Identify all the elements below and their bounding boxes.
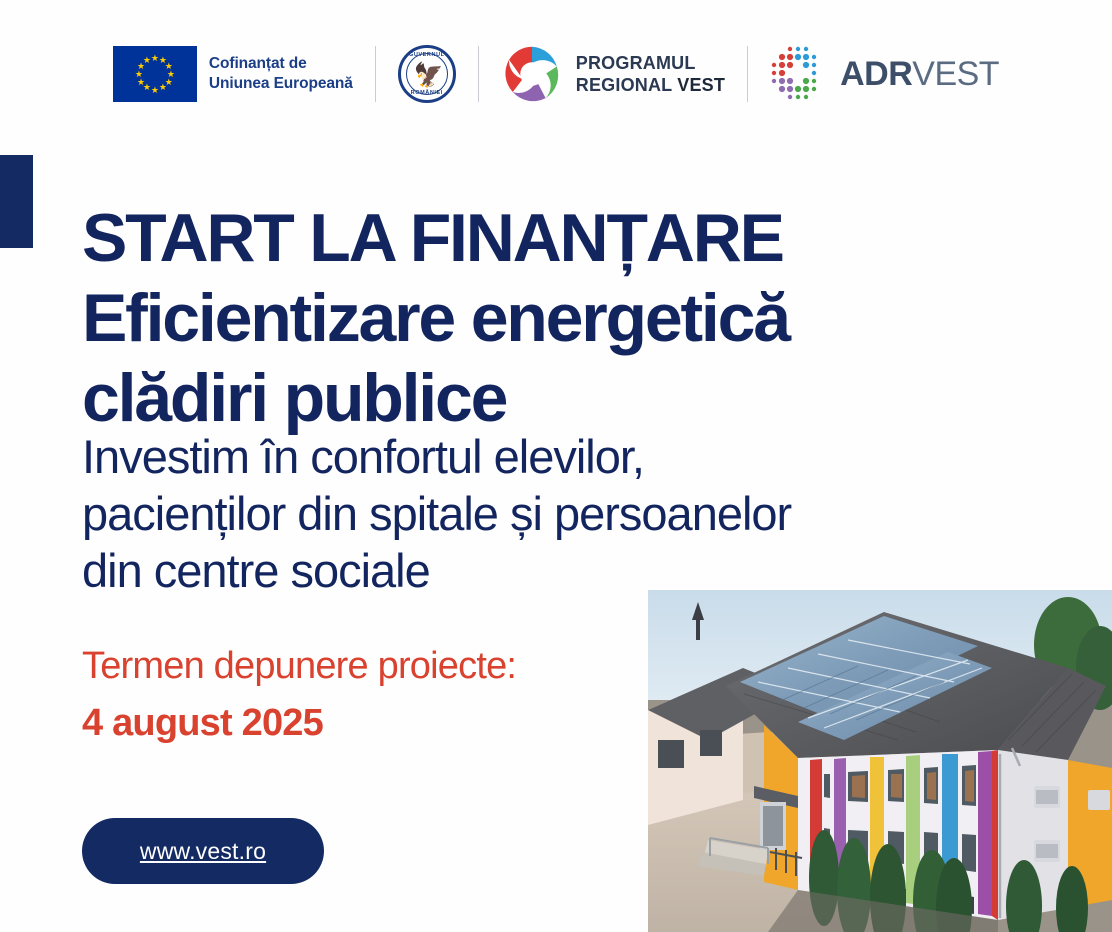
guvernul-romaniei-seal-icon: GUVERNUL 🦅 ROMÂNIEI [398, 45, 456, 103]
program-logo-cell: PROGRAMUL REGIONAL VEST [479, 34, 747, 114]
deadline-date: 4 august 2025 [82, 700, 323, 746]
page-title: START LA FINANȚARE Eficientizare energet… [82, 198, 1042, 438]
website-cta-button[interactable]: www.vest.ro [82, 818, 324, 884]
eu-logo-cell: ★★★★★★★★★★★★ Cofinanțat de Uniunea Europ… [91, 34, 375, 114]
eu-logo-line1: Cofinanțat de [209, 54, 353, 74]
page-subtitle: Investim în confortul elevilor, pacienți… [82, 428, 1042, 599]
program-logo-text: PROGRAMUL REGIONAL VEST [576, 52, 725, 96]
adr-dots-icon [770, 46, 826, 102]
adr-text-regular: VEST [912, 55, 999, 93]
pinwheel-icon [501, 43, 563, 105]
adr-logo-cell: ADRVEST [748, 34, 1021, 114]
eu-star-icon: ★ [134, 70, 143, 79]
eu-star-icon: ★ [137, 78, 146, 87]
headline-line2: Eficientizare energetică [82, 278, 1042, 358]
headline-line3: clădiri publice [82, 358, 1042, 438]
eagle-icon: 🦅 [414, 59, 440, 93]
seal-top-text: GUVERNUL [401, 52, 453, 58]
partner-logo-bar: ★★★★★★★★★★★★ Cofinanțat de Uniunea Europ… [0, 34, 1112, 114]
deadline-label: Termen depunere proiecte: [82, 643, 516, 689]
headline-line1: START LA FINANȚARE [82, 198, 1042, 278]
adr-logo-text: ADRVEST [840, 56, 999, 92]
program-line1: PROGRAMUL [576, 52, 725, 74]
program-line2: REGIONAL VEST [576, 74, 725, 96]
seal-bottom-text: ROMÂNIEI [401, 90, 453, 96]
eu-star-icon: ★ [158, 83, 167, 92]
eu-star-icon: ★ [142, 56, 151, 65]
government-logo-cell: GUVERNUL 🦅 ROMÂNIEI [376, 34, 478, 114]
eu-logo-line2: Uniunea Europeană [209, 74, 353, 94]
building-photo [648, 590, 1112, 932]
adr-text-bold: ADR [840, 55, 912, 93]
navy-accent-bar [0, 155, 33, 248]
program-line2-bold: VEST [677, 75, 725, 95]
program-line2-regular: REGIONAL [576, 75, 677, 95]
subtitle-line1: Investim în confortul elevilor, [82, 428, 1042, 485]
subtitle-line2: pacienților din spitale și persoanelor [82, 485, 1042, 542]
eu-logo-text: Cofinanțat de Uniunea Europeană [209, 54, 353, 94]
eu-flag-icon: ★★★★★★★★★★★★ [113, 46, 197, 102]
eu-star-icon: ★ [150, 86, 159, 95]
